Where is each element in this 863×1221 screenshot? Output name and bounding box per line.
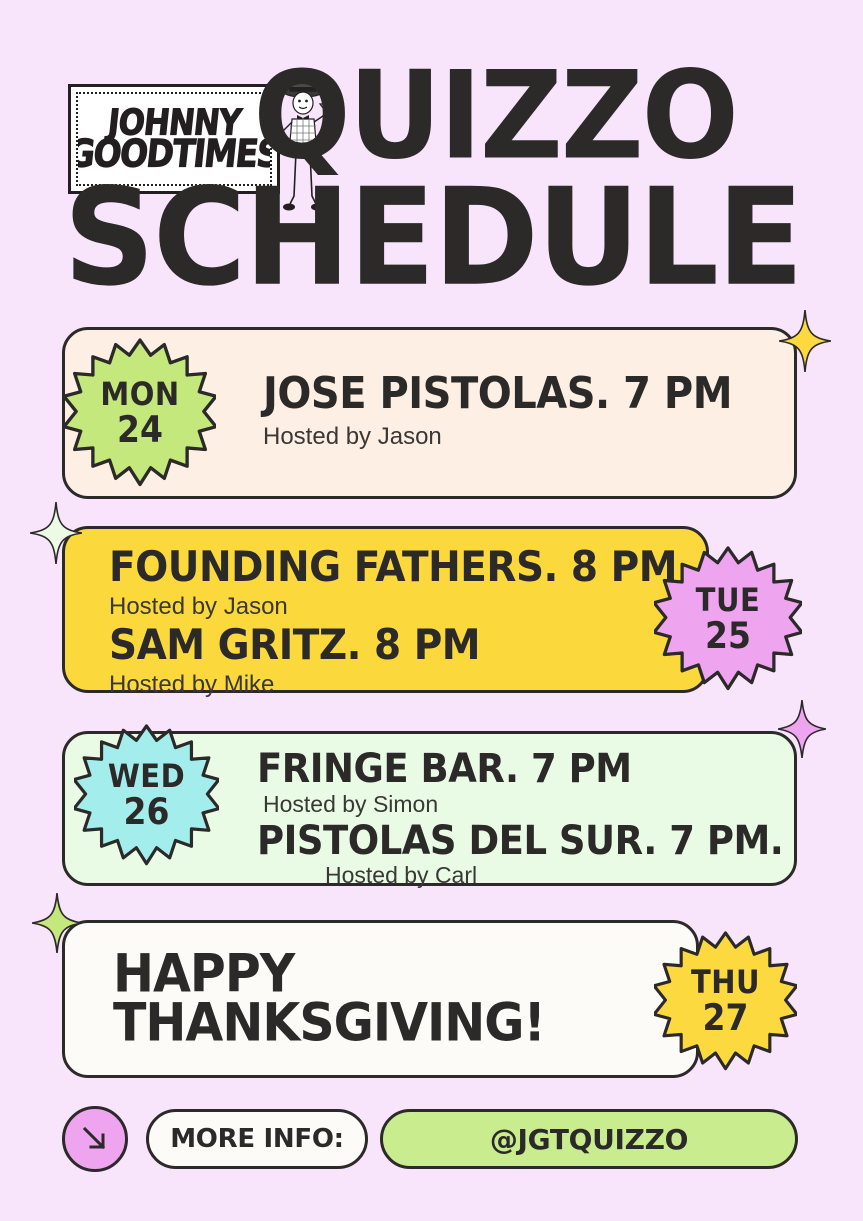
badge-date-number: 24 <box>100 413 179 446</box>
event-host: Hosted by Mike <box>109 669 677 700</box>
sparkle-icon <box>779 310 831 372</box>
title-line-schedule: SCHEDULE <box>0 183 863 296</box>
poster-footer: MORE INFO: @JGTQUIZZO <box>0 1106 863 1172</box>
tuesday-events: FOUNDING FATHERS. 8 PM Hosted by Jason S… <box>109 548 677 704</box>
thursday-message: HAPPY THANKSGIVING! <box>113 949 545 1047</box>
quizzo-schedule-poster: JOHNNY GOODTIMES <box>0 0 863 1221</box>
page-title: QUIZZO SCHEDULE <box>0 72 863 290</box>
wednesday-events: FRINGE BAR. 7 PM Hosted by Simon PISTOLA… <box>257 750 783 893</box>
event-title: FRINGE BAR. 7 PM <box>257 748 783 789</box>
badge-day-label: WED <box>108 762 185 791</box>
event-title: SAM GRITZ. 8 PM <box>109 624 677 667</box>
day-card-tuesday[interactable]: FOUNDING FATHERS. 8 PM Hosted by Jason S… <box>62 526 709 693</box>
day-badge-tuesday: TUE 25 <box>654 545 802 693</box>
badge-date-number: 26 <box>108 796 185 829</box>
badge-day-label: TUE <box>696 586 761 615</box>
sparkle-icon <box>30 502 82 564</box>
day-card-thursday[interactable]: HAPPY THANKSGIVING! <box>62 920 699 1078</box>
sparkle-icon <box>778 700 826 758</box>
badge-date-number: 25 <box>696 619 761 652</box>
title-line-quizzo: QUIZZO <box>0 67 863 169</box>
holiday-message-line-2: THANKSGIVING! <box>113 996 545 1049</box>
arrow-down-right-icon <box>78 1122 112 1156</box>
event-title: FOUNDING FATHERS. 8 PM <box>109 546 677 589</box>
sparkle-icon <box>32 893 82 953</box>
event-title: PISTOLAS DEL SUR. 7 PM. <box>257 820 783 861</box>
event-host: Hosted by Jason <box>263 421 732 452</box>
day-badge-wednesday: WED 26 <box>74 723 219 868</box>
event-title: JOSE PISTOLAS. 7 PM <box>263 372 732 416</box>
badge-date-number: 27 <box>691 1002 760 1035</box>
poster-header: JOHNNY GOODTIMES <box>0 0 863 310</box>
event-host: Hosted by Jason <box>109 591 677 622</box>
social-handle-button[interactable]: @JGTQUIZZO <box>380 1109 798 1169</box>
monday-events: JOSE PISTOLAS. 7 PM Hosted by Jason <box>263 374 732 454</box>
event-host: Hosted by Simon <box>263 790 783 820</box>
day-badge-monday: MON 24 <box>64 337 216 489</box>
more-info-label: MORE INFO: <box>146 1109 368 1169</box>
badge-day-label: THU <box>691 968 760 997</box>
day-badge-thursday: THU 27 <box>654 930 797 1073</box>
badge-day-label: MON <box>100 380 179 409</box>
arrow-down-right-button[interactable] <box>62 1106 128 1172</box>
event-host: Hosted by Carl <box>325 861 783 891</box>
